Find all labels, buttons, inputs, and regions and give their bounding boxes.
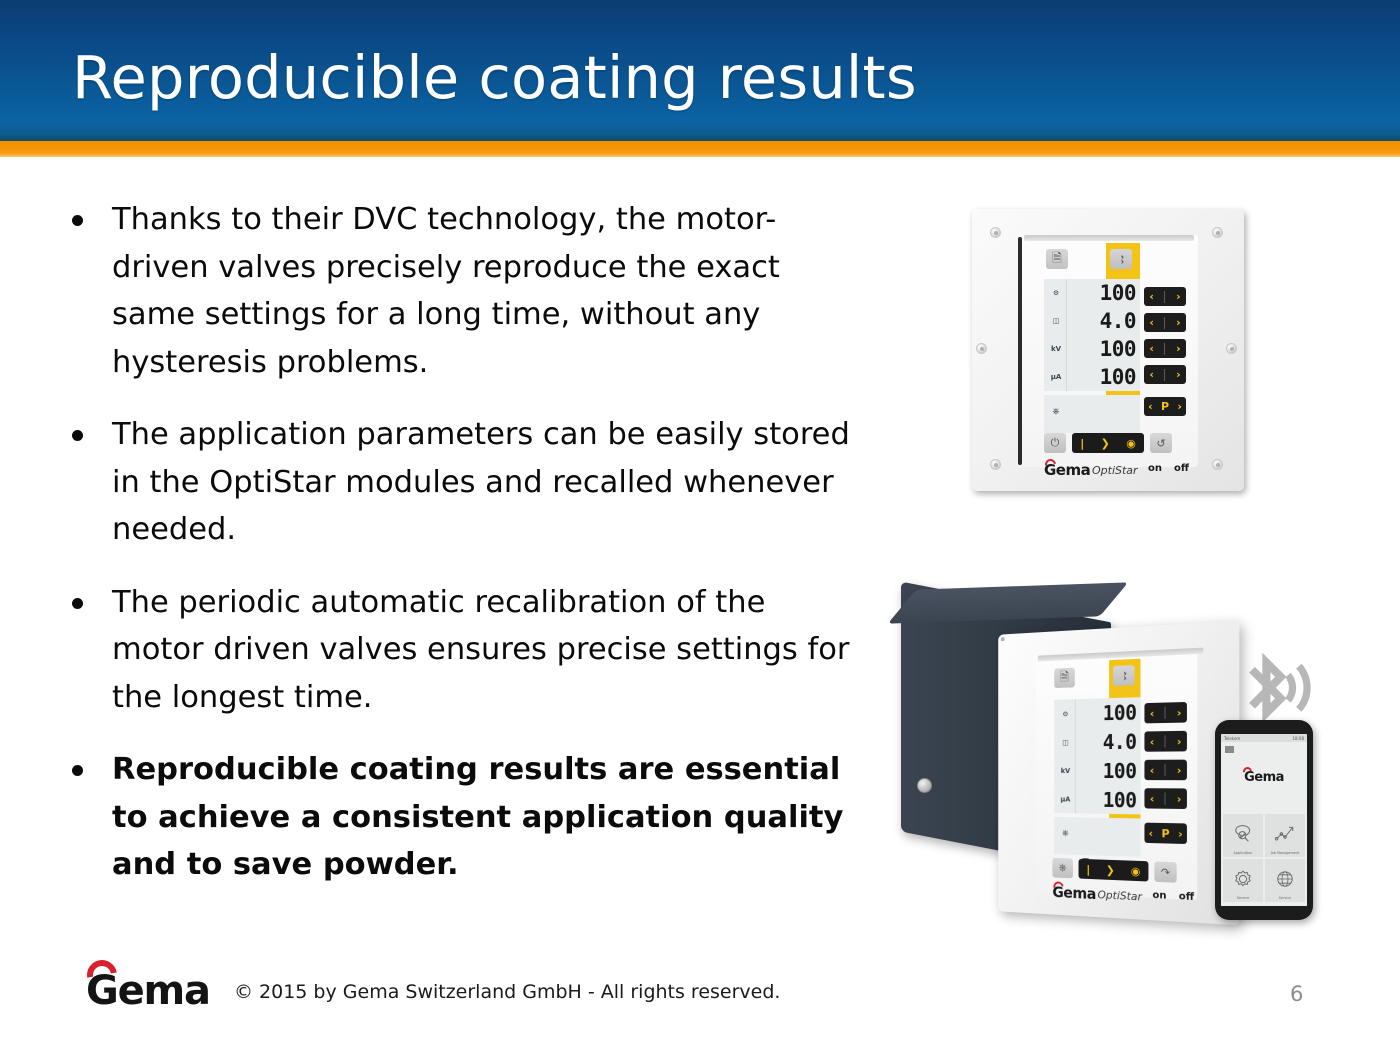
bottom-control-row: ⏻ | ❯ ◉ ↺ [1040,433,1190,457]
lcd-row: ⊝ 100 [1044,279,1140,307]
chevron-left-icon: ‹ [1150,763,1155,776]
lcd-value: 100 [1103,760,1137,780]
copyright-text: © 2015 by Gema Switzerland GmbH - All ri… [234,981,780,1003]
lcd-row: µA 100 [1044,363,1140,391]
bluetooth-icon[interactable] [1110,249,1132,269]
screw-icon [998,644,1007,654]
lcd-row: µA 100 [1054,785,1140,815]
label-on: on [1148,463,1162,474]
power-button[interactable]: ⎈ [1052,858,1072,878]
bullet-text: The application parameters can be easily… [112,417,850,547]
chevron-left-icon: ‹ [1149,316,1154,329]
smartphone-mockup: Telekom 18:08 Gema Application Job Manag… [1215,720,1313,920]
program-button[interactable]: ‹ P › [1144,823,1186,844]
clock-label: 18:08 [1292,736,1304,741]
faceplate-3d: 🗎 ⊝ 100 ◫ 4.0 kV 100 [998,621,1239,926]
power-button[interactable]: ⏻ [1044,433,1066,453]
chevron-left-icon: ‹ [1148,400,1153,413]
chevron-left-icon: ‹ [1149,826,1154,839]
lcd-row: ◫ 4.0 [1054,726,1140,756]
app-tile-service[interactable]: Service [1265,859,1305,902]
powder-icon: ◫ [1056,738,1075,746]
nav-button-row1[interactable]: ‹ › [1144,287,1186,306]
tile-caption: Service [1265,896,1305,900]
mode-icon-3: ◉ [1126,437,1136,450]
phone-status-bar: Telekom 18:08 [1221,734,1307,742]
chevron-right-icon: › [1177,400,1182,413]
nav-button-row4[interactable]: ‹ › [1144,788,1186,809]
page-number: 6 [1290,982,1303,1006]
lcd-unit-label: µA [1046,373,1066,381]
nav-button-row3[interactable]: ‹ › [1144,339,1186,358]
divider [1165,764,1166,776]
app-tile-settings[interactable]: Service [1223,859,1263,902]
gear-icon [1231,867,1255,891]
bullet-list: Thanks to their DVC technology, the moto… [64,196,864,914]
divider [1165,707,1166,719]
optistar-module-with-app-image: 🗎 ⊝ 100 ◫ 4.0 kV 100 [893,580,1323,925]
label-off: off [1174,463,1189,474]
return-button[interactable]: ↷ [1154,861,1176,882]
lcd-value: 100 [1100,339,1136,360]
chevron-left-icon: ‹ [1150,735,1155,748]
housing-knob-icon [917,778,932,793]
screw-icon [1212,227,1223,238]
copy-icon[interactable]: 🗎 [1054,668,1075,688]
lcd-unit-label: µA [1056,795,1075,803]
standby-icon: ⎈ [1056,829,1075,839]
chart-icon [1273,822,1297,846]
screw-icon [998,653,1007,663]
device-housing-top [888,582,1129,623]
lcd-rows: ⊝ 100 ◫ 4.0 kV 100 µA 100 [1044,279,1140,391]
mode-icon-1: | [1080,437,1084,450]
tile-caption: Application [1223,851,1263,855]
lcd-rows: ⊝ 100 ◫ 4.0 kV 100 µA 100 [1054,697,1140,814]
screw-icon [990,227,1001,238]
slide-header: Reproducible coating results [0,0,1400,141]
gun-icon: ⊝ [1056,709,1075,717]
bullet-dot-icon [72,215,83,226]
bluetooth-icon[interactable] [1113,665,1135,686]
chevron-left-icon: ‹ [1150,792,1155,805]
chevron-right-icon: › [1176,290,1181,303]
lcd-row: kV 100 [1044,335,1140,363]
screw-icon [998,663,1007,673]
hamburger-menu-icon[interactable] [1225,746,1234,753]
device-branding: Gema OptiStar on off [1040,461,1200,479]
mode-icon-1: | [1086,863,1090,876]
control-panel-3d: 🗎 ⊝ 100 ◫ 4.0 kV 100 [1036,648,1197,900]
screw-icon [1226,343,1237,354]
lcd-unit-label: kV [1046,345,1066,353]
bullet-dot-icon [72,598,83,609]
chevron-right-icon: › [1177,792,1182,805]
label-off: off [1179,891,1194,903]
control-panel: 🗎 ⊝ 100 ◫ 4.0 kV 100 [1022,235,1198,467]
lcd-lower-section: ⎈ [1044,395,1140,433]
divider [1165,735,1166,747]
bullet-text: Thanks to their DVC technology, the moto… [112,202,780,380]
faceplate: 🗎 ⊝ 100 ◫ 4.0 kV 100 [972,209,1244,491]
panel-topbar [1024,235,1194,241]
lcd-value: 100 [1100,283,1136,304]
program-label: P [1161,400,1169,413]
label-on: on [1152,890,1166,902]
chevron-left-icon: ‹ [1149,290,1154,303]
mode-icon-2: ❯ [1101,437,1110,450]
mode-icon-3: ◉ [1131,864,1140,877]
copy-icon[interactable]: 🗎 [1046,249,1068,269]
chevron-left-icon: ‹ [1149,342,1154,355]
screw-icon [998,672,1007,682]
bullet-dot-icon [72,430,83,441]
lcd-row: kV 100 [1054,756,1140,785]
lcd-value: 4.0 [1100,311,1136,332]
app-tile-grid: Application Job Management Service Servi… [1223,814,1305,902]
bullet-dot-icon [72,765,83,776]
nav-button-row1[interactable]: ‹ › [1144,702,1186,723]
optistar-front-panel-image: 🗎 ⊝ 100 ◫ 4.0 kV 100 [972,209,1244,491]
chevron-right-icon: › [1176,342,1181,355]
screw-icon [1212,459,1223,470]
gema-wordmark: Gema [1044,461,1090,479]
list-item: Thanks to their DVC technology, the moto… [64,196,864,386]
nav-button-row4[interactable]: ‹ › [1144,365,1186,384]
list-item: The periodic automatic recalibration of … [64,579,864,722]
gun-icon: ⊝ [1046,289,1066,297]
model-name: OptiStar [1092,464,1138,477]
page-title: Reproducible coating results [72,46,917,111]
program-label: P [1161,827,1169,840]
divider [1164,291,1165,303]
screw-icon [976,343,987,354]
gema-logo: Gema [84,964,214,1012]
standby-icon: ⎈ [1046,407,1066,417]
nav-button-row3[interactable]: ‹ › [1144,760,1186,781]
nav-button-row2[interactable]: ‹ › [1144,731,1186,752]
mode-icon-2: ❯ [1106,863,1115,876]
inspection-icon [1231,822,1255,846]
gema-wordmark: Gema [1052,883,1095,903]
model-name: OptiStar [1098,888,1142,903]
panel-edge [1018,237,1022,465]
lcd-lower-section: ⎈ [1054,817,1140,857]
list-item: Reproducible coating results are essenti… [64,746,864,889]
lcd-display: ⊝ 100 ◫ 4.0 kV 100 µA 100 [1044,279,1140,391]
screw-icon [990,459,1001,470]
lcd-unit-label: kV [1056,767,1075,775]
gema-wordmark: Gema [86,968,210,1014]
chevron-right-icon: › [1177,763,1182,776]
lcd-row: ⊝ 100 [1054,697,1140,728]
chevron-right-icon: › [1176,316,1181,329]
mode-indicator-strip[interactable]: | ❯ ◉ [1079,859,1149,882]
program-button[interactable]: ‹ P › [1144,397,1186,416]
app-brand-wordmark: Gema [1221,770,1307,785]
divider [1164,317,1165,329]
divider [1165,792,1166,804]
lcd-display: ⊝ 100 ◫ 4.0 kV 100 µA 100 [1054,697,1140,814]
lcd-value: 100 [1103,789,1137,809]
chevron-right-icon: › [1178,827,1183,840]
accent-bar [0,141,1400,157]
chevron-right-icon: › [1177,734,1182,747]
chevron-left-icon: ‹ [1149,368,1154,381]
mode-indicator-strip[interactable]: | ❯ ◉ [1072,433,1144,453]
divider [1164,343,1165,355]
chevron-right-icon: › [1177,706,1182,719]
tile-caption: Service [1223,896,1263,900]
carrier-label: Telekom [1224,736,1240,741]
bullet-text: Reproducible coating results are essenti… [112,752,843,882]
app-tile-job-management[interactable]: Job Management [1265,814,1305,857]
app-tile-application[interactable]: Application [1223,814,1263,857]
lcd-value: 100 [1100,367,1136,388]
list-item: The application parameters can be easily… [64,411,864,554]
tile-caption: Job Management [1265,851,1305,855]
divider [1164,369,1165,381]
lcd-value: 100 [1103,702,1137,723]
nav-button-row2[interactable]: ‹ › [1144,313,1186,332]
return-button[interactable]: ↺ [1150,433,1172,453]
phone-screen: Telekom 18:08 Gema Application Job Manag… [1221,734,1307,906]
globe-icon [1273,867,1297,891]
lcd-value: 4.0 [1103,731,1137,751]
chevron-right-icon: › [1176,368,1181,381]
bullet-text: The periodic automatic recalibration of … [112,585,849,715]
lcd-row: ◫ 4.0 [1044,307,1140,335]
chevron-left-icon: ‹ [1150,706,1155,719]
powder-icon: ◫ [1046,317,1066,325]
